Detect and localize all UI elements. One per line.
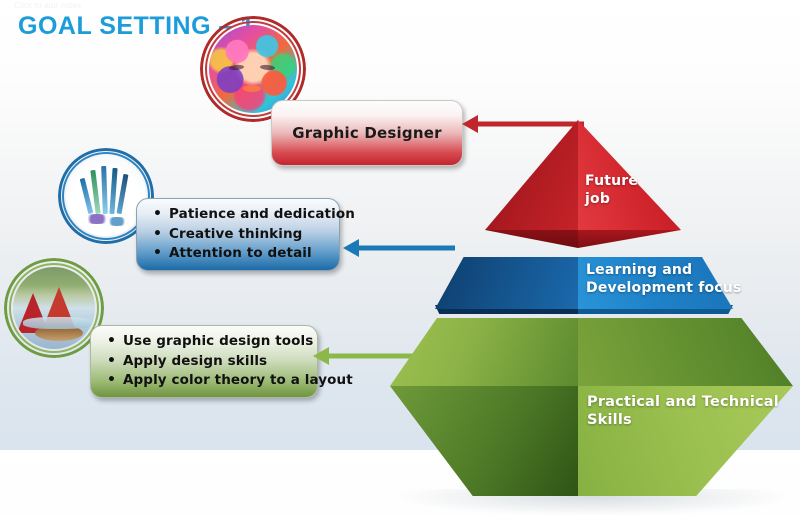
list-item: Use graphic design tools (101, 332, 307, 352)
pyramid-tier-1-bottom-left-edge (485, 230, 578, 248)
callout-body: Patience and dedication Creative thinkin… (137, 205, 339, 264)
list-item: Attention to detail (147, 244, 329, 264)
pyramid-tier-1-label: Future job (585, 173, 638, 208)
callout-soft-skills[interactable]: Patience and dedication Creative thinkin… (136, 198, 340, 271)
slide-canvas: Click to add notes GOAL SETTING – 1 (0, 0, 800, 450)
pyramid-tier-2-label: Learning and Development focus (586, 262, 742, 297)
pyramid-tier-1-left-facet[interactable] (485, 120, 578, 230)
pyramid-tier-3-top-right-facet[interactable] (578, 318, 793, 386)
pyramid-tier-2-left-facet[interactable] (435, 257, 578, 309)
soft-skills-list: Patience and dedication Creative thinkin… (147, 205, 329, 264)
pyramid-tier-1-bottom-right-edge (578, 230, 681, 248)
pyramid-tier-3-label: Practical and Technical Skills (587, 393, 800, 429)
callout-technical-tasks[interactable]: Use graphic design tools Apply design sk… (90, 325, 318, 398)
three-tier-pyramid-diagram: Future job Learning and Development focu… (390, 105, 800, 450)
pyramid-tier-3-front-left-facet[interactable] (390, 386, 578, 496)
green-circle-frame-inner (9, 263, 99, 353)
arrow-head (313, 347, 329, 365)
list-item: Apply color theory to a layout (101, 371, 307, 391)
technical-tasks-list: Use graphic design tools Apply design sk… (101, 332, 307, 391)
list-item: Apply design skills (101, 352, 307, 372)
arrow-head (343, 239, 359, 257)
list-item: Patience and dedication (147, 205, 329, 225)
abstract-landscape-image (4, 258, 104, 358)
list-item: Creative thinking (147, 225, 329, 245)
notes-placeholder-text: Click to add notes (14, 1, 81, 10)
callout-body: Use graphic design tools Apply design sk… (91, 332, 317, 391)
pyramid-tier-3-top-left-facet[interactable] (390, 318, 578, 386)
